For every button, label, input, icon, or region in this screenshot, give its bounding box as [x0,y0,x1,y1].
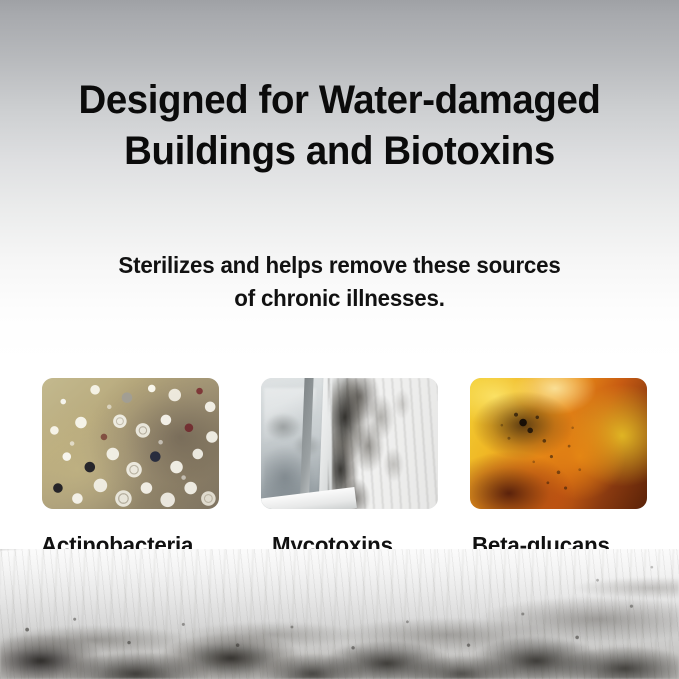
subheadline-line-2: of chronic illnesses. [10,282,669,315]
water-damaged-wall-band [0,549,679,679]
page-subtitle: Sterilizes and helps remove these source… [10,249,669,315]
beta-glucan-spore-cluster [470,378,647,509]
card-actinobacteria [42,378,219,509]
window-glass-condensation [265,402,325,465]
promotional-poster: Designed for Water-damaged Buildings and… [0,0,679,679]
card-mycotoxins [261,378,438,509]
petri-dish-colony-rings [42,378,219,509]
source-image-row [42,378,643,509]
headline-line-2: Buildings and Biotoxins [14,126,666,177]
wall-water-streaks [0,549,679,679]
card-beta-glucans [470,378,647,509]
subheadline-line-1: Sterilizes and helps remove these source… [10,249,669,282]
headline-line-1: Designed for Water-damaged [14,75,666,126]
page-title: Designed for Water-damaged Buildings and… [14,75,666,177]
